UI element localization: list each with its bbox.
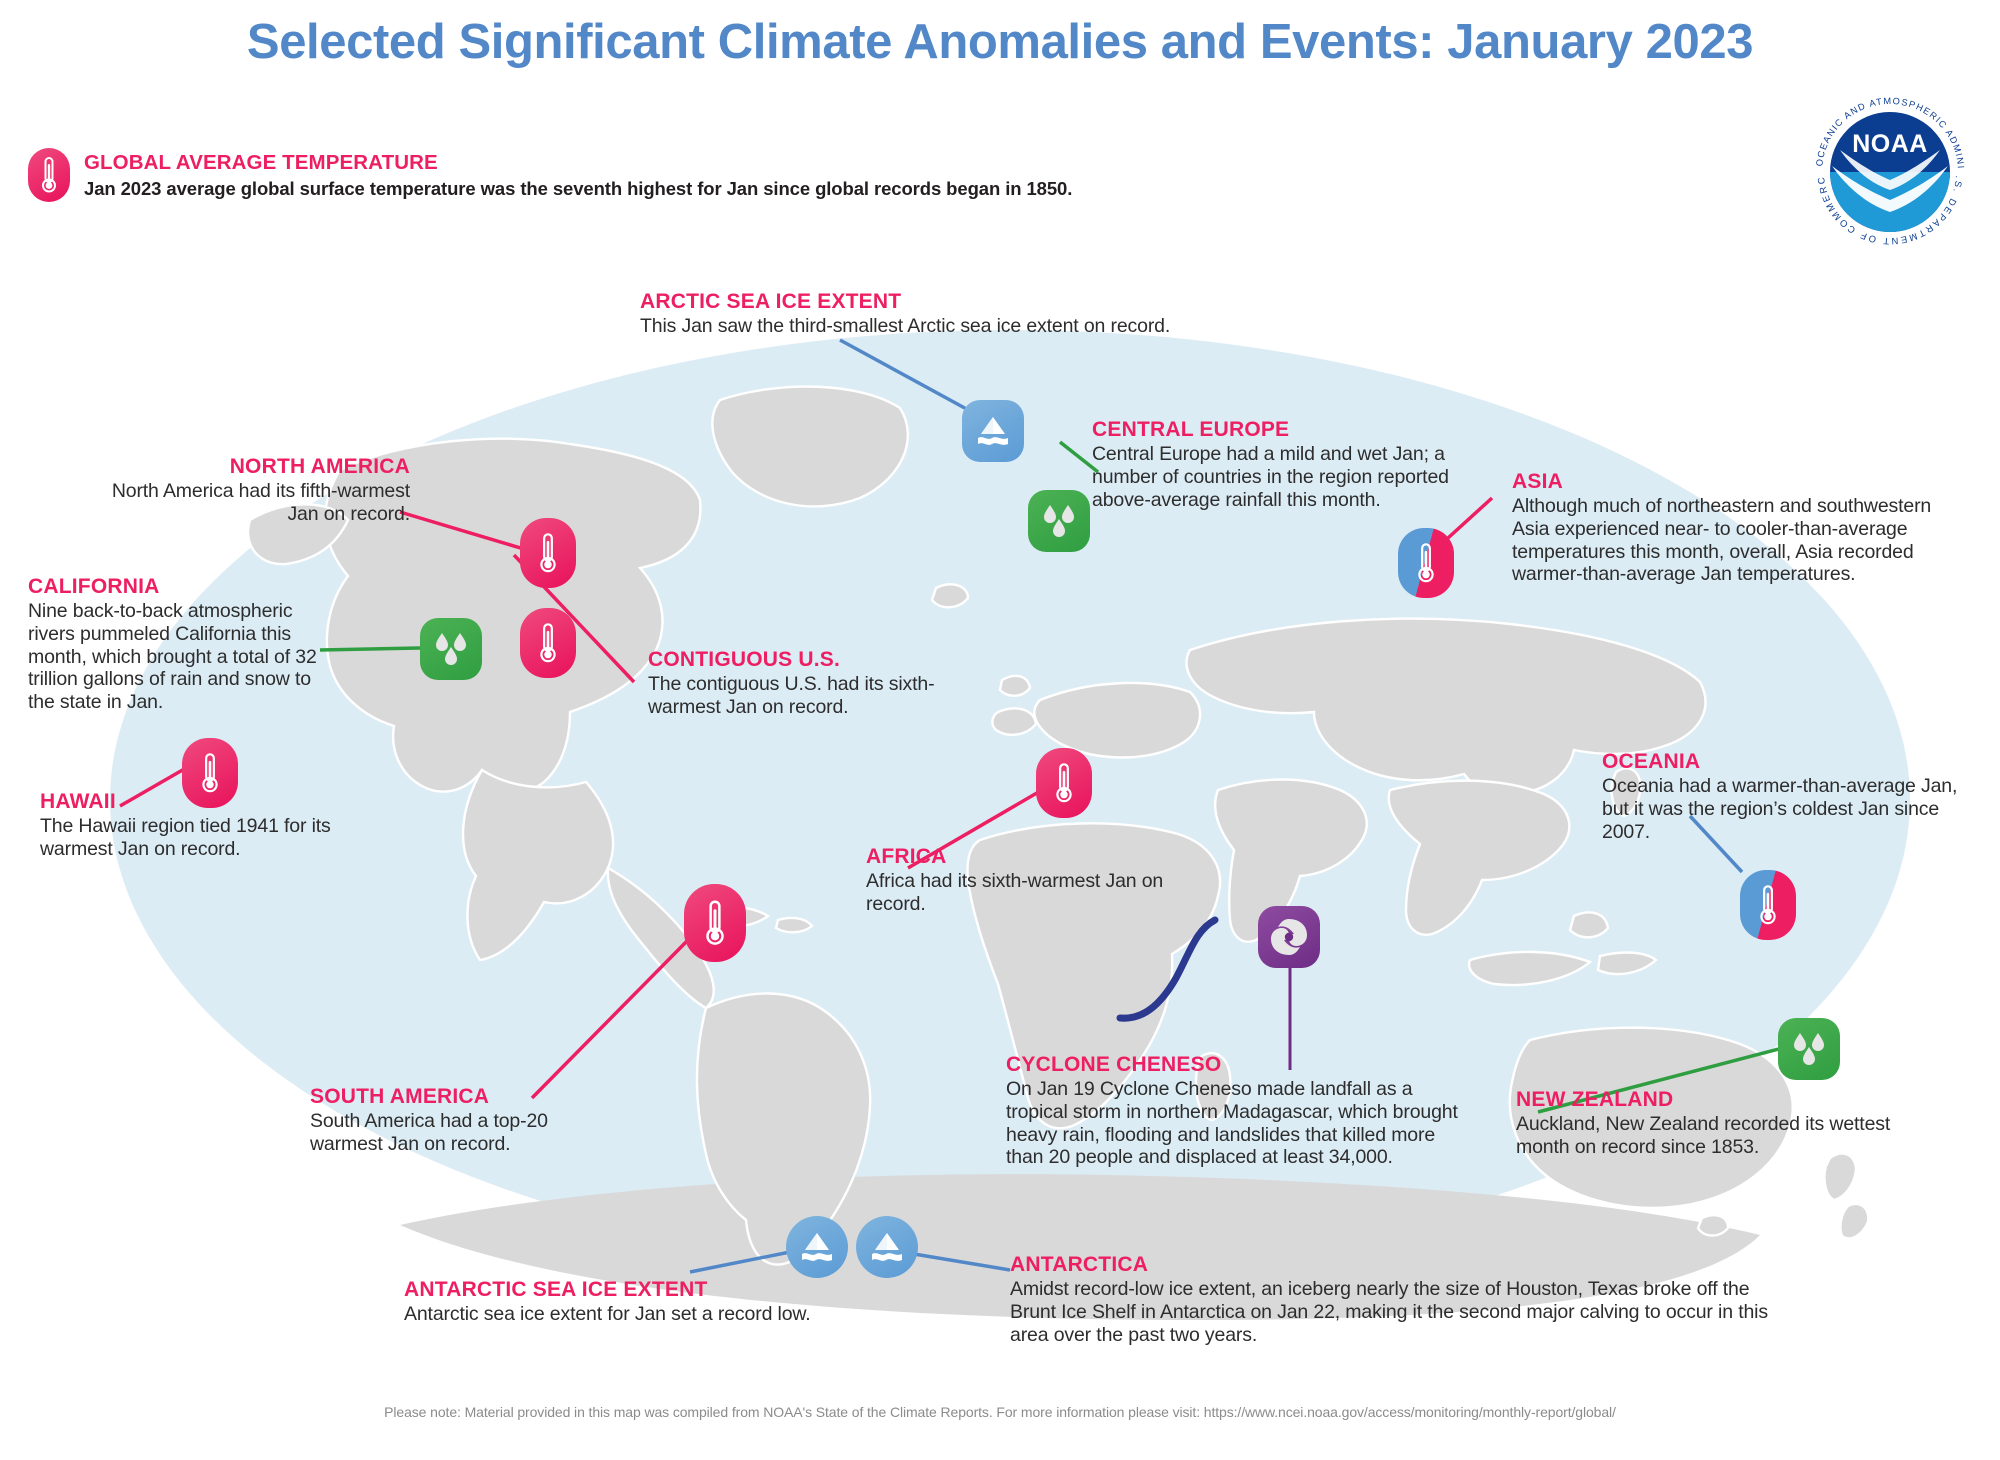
thermometer-icon[interactable]: [520, 518, 576, 588]
thermometer-glyph: [702, 898, 728, 948]
global-banner-body: Jan 2023 average global surface temperat…: [84, 178, 1072, 200]
callout-asia: ASIA Although much of northeastern and s…: [1512, 470, 1968, 586]
thermometer-glyph: [1757, 883, 1779, 927]
callout-heading: ARCTIC SEA ICE EXTENT: [640, 290, 1260, 314]
raindrops-glyph: [430, 628, 472, 670]
thermometer-split-icon[interactable]: [1398, 528, 1454, 598]
callout-heading: ANTARCTIC SEA ICE EXTENT: [404, 1278, 924, 1302]
callout-antarctica: ANTARCTICA Amidst record-low ice extent,…: [1010, 1253, 1792, 1346]
iceberg-glyph: [799, 1230, 835, 1264]
callout-body: Although much of northeastern and southw…: [1512, 495, 1968, 586]
callout-heading: ANTARCTICA: [1010, 1253, 1792, 1277]
callout-body: The contiguous U.S. had its sixth-warmes…: [648, 673, 948, 719]
callout-body: Antarctic sea ice extent for Jan set a r…: [404, 1303, 924, 1326]
footer-note: Please note: Material provided in this m…: [0, 1404, 2000, 1420]
callout-contiguous-us: CONTIGUOUS U.S. The contiguous U.S. had …: [648, 648, 948, 719]
thermometer-glyph: [39, 155, 59, 195]
raindrops-icon[interactable]: [1778, 1018, 1840, 1080]
thermometer-icon[interactable]: [1036, 748, 1092, 818]
callout-heading: CENTRAL EUROPE: [1092, 418, 1452, 442]
thermometer-glyph: [199, 751, 221, 795]
callout-heading: AFRICA: [866, 845, 1166, 869]
callout-body: Central Europe had a mild and wet Jan; a…: [1092, 443, 1452, 511]
callout-heading: HAWAII: [40, 790, 340, 814]
callout-body: Africa had its sixth-warmest Jan on reco…: [866, 870, 1166, 916]
callout-south-america: SOUTH AMERICA South America had a top-20…: [310, 1085, 610, 1156]
cyclone-icon[interactable]: [1258, 906, 1320, 968]
callout-arctic-sea-ice-extent: ARCTIC SEA ICE EXTENT This Jan saw the t…: [640, 290, 1260, 338]
iceberg-icon[interactable]: [786, 1216, 848, 1278]
raindrops-glyph: [1038, 500, 1080, 542]
callout-heading: CYCLONE CHENESO: [1006, 1053, 1458, 1077]
iceberg-glyph: [975, 414, 1011, 448]
callout-heading: NORTH AMERICA: [110, 455, 410, 479]
callout-central-europe: CENTRAL EUROPE Central Europe had a mild…: [1092, 418, 1452, 511]
callout-heading: OCEANIA: [1602, 750, 1962, 774]
callout-north-america: NORTH AMERICA North America had its fift…: [110, 455, 410, 526]
callout-heading: ASIA: [1512, 470, 1968, 494]
callout-body: On Jan 19 Cyclone Cheneso made landfall …: [1006, 1078, 1458, 1169]
callout-body: Auckland, New Zealand recorded its wette…: [1516, 1113, 1896, 1159]
callout-heading: CONTIGUOUS U.S.: [648, 648, 948, 672]
noaa-wordmark: NOAA: [1852, 130, 1928, 158]
thermometer-glyph: [537, 531, 559, 575]
page-title: Selected Significant Climate Anomalies a…: [0, 14, 2000, 70]
callout-antarctic-sea-ice-extent: ANTARCTIC SEA ICE EXTENT Antarctic sea i…: [404, 1278, 924, 1326]
raindrops-icon[interactable]: [420, 618, 482, 680]
callout-body: This Jan saw the third-smallest Arctic s…: [640, 315, 1260, 338]
callout-body: South America had a top-20 warmest Jan o…: [310, 1110, 610, 1156]
callout-cyclone-cheneso: CYCLONE CHENESO On Jan 19 Cyclone Chenes…: [1006, 1053, 1458, 1169]
callout-oceania: OCEANIA Oceania had a warmer-than-averag…: [1602, 750, 1962, 843]
thermometer-glyph: [537, 621, 559, 665]
callout-body: Oceania had a warmer-than-average Jan, b…: [1602, 775, 1962, 843]
cyclone-glyph: [1266, 914, 1312, 960]
noaa-logo: NOAA NATIONAL OCEANIC AND ATMOSPHERIC AD…: [1806, 88, 1974, 256]
raindrops-glyph: [1788, 1028, 1830, 1070]
iceberg-glyph: [869, 1230, 905, 1264]
callout-heading: CALIFORNIA: [28, 575, 328, 599]
thermometer-icon: [28, 148, 70, 202]
thermometer-icon[interactable]: [684, 884, 746, 962]
callout-body: Amidst record-low ice extent, an iceberg…: [1010, 1278, 1792, 1346]
thermometer-icon[interactable]: [520, 608, 576, 678]
callout-body: The Hawaii region tied 1941 for its warm…: [40, 815, 340, 861]
thermometer-split-icon[interactable]: [1740, 870, 1796, 940]
callout-california: CALIFORNIA Nine back-to-back atmospheric…: [28, 575, 328, 714]
callout-africa: AFRICA Africa had its sixth-warmest Jan …: [866, 845, 1166, 916]
callout-hawaii: HAWAII The Hawaii region tied 1941 for i…: [40, 790, 340, 861]
raindrops-icon[interactable]: [1028, 490, 1090, 552]
callout-heading: SOUTH AMERICA: [310, 1085, 610, 1109]
callout-heading: NEW ZEALAND: [1516, 1088, 1896, 1112]
global-banner-heading: GLOBAL AVERAGE TEMPERATURE: [84, 151, 1072, 175]
iceberg-icon[interactable]: [856, 1216, 918, 1278]
thermometer-glyph: [1415, 541, 1437, 585]
callout-body: North America had its fifth-warmest Jan …: [110, 480, 410, 526]
callout-body: Nine back-to-back atmospheric rivers pum…: [28, 600, 328, 714]
global-average-temperature-banner: GLOBAL AVERAGE TEMPERATURE Jan 2023 aver…: [28, 148, 1072, 202]
iceberg-icon[interactable]: [962, 400, 1024, 462]
thermometer-glyph: [1053, 761, 1075, 805]
callout-new-zealand: NEW ZEALAND Auckland, New Zealand record…: [1516, 1088, 1896, 1159]
